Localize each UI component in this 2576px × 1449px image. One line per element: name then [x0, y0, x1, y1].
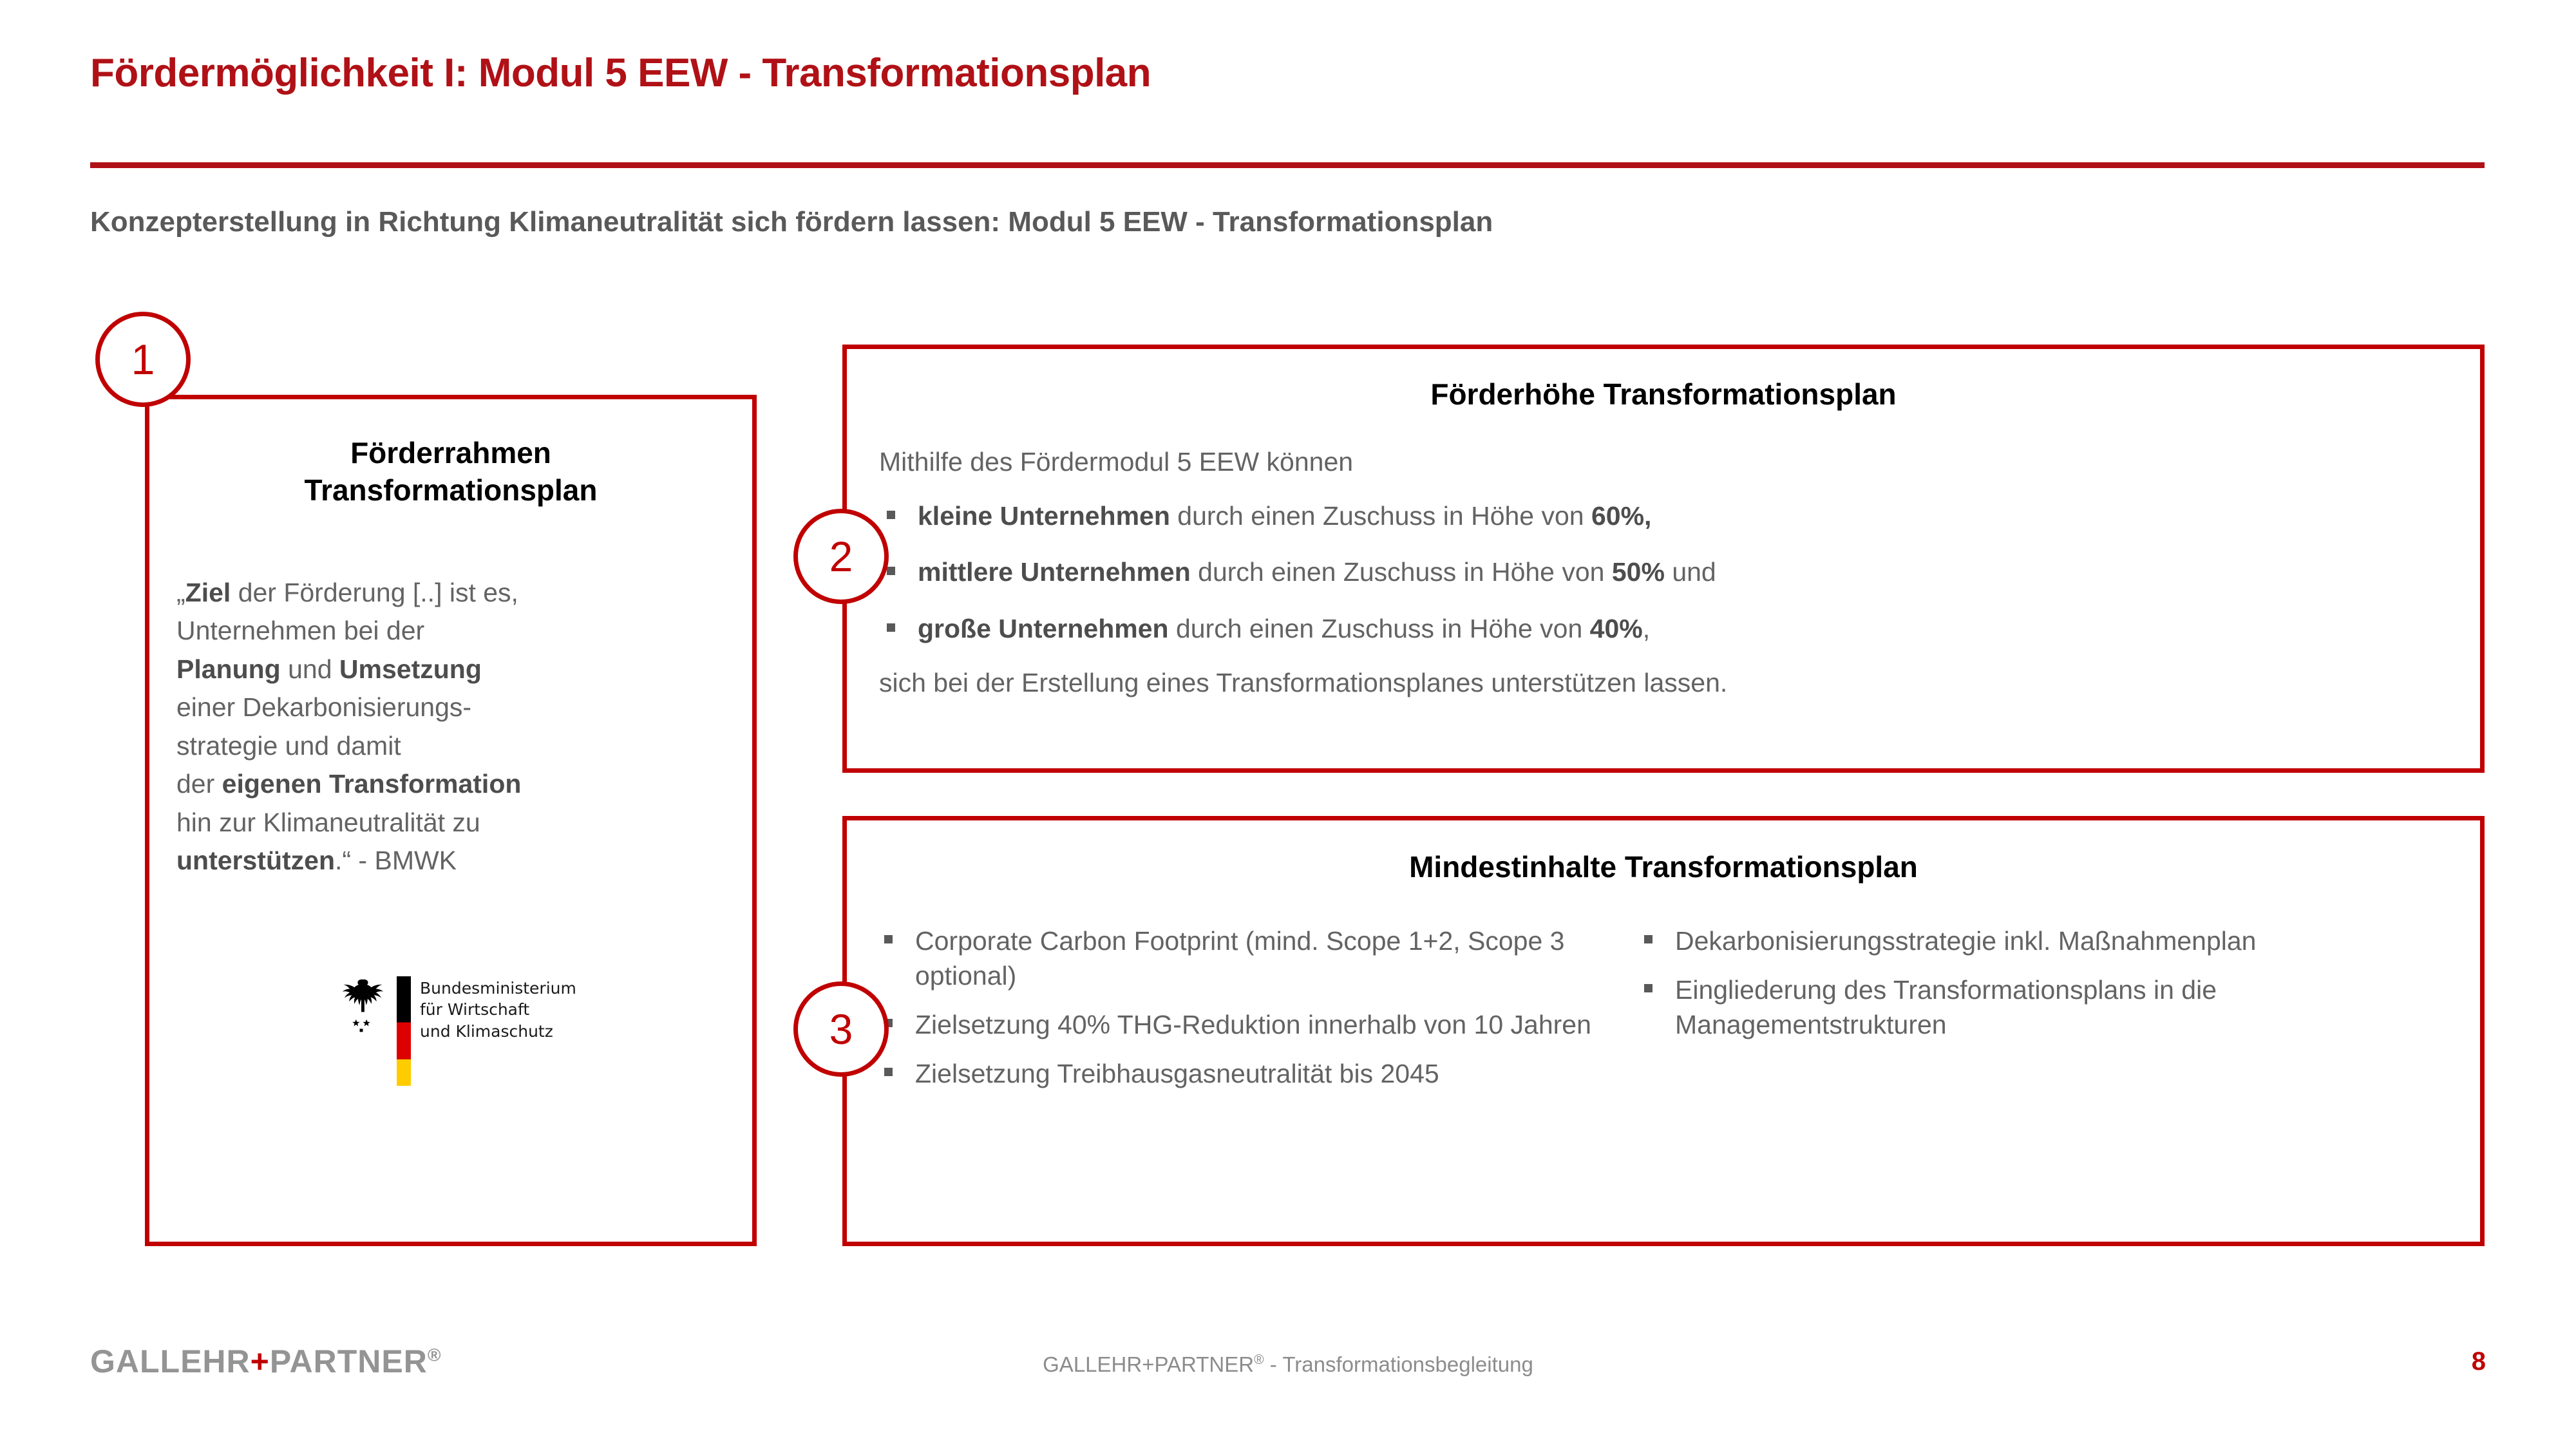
page-subtitle: Konzepterstellung in Richtung Klimaneutr… [90, 206, 2486, 238]
quote-bold-ziel: Ziel [185, 578, 231, 607]
page-number: 8 [2472, 1347, 2486, 1376]
bullet-value: 40% [1590, 614, 1643, 643]
footer-caption-part1: GALLEHR+PARTNER [1043, 1352, 1254, 1376]
foerderhoehe-heading: Förderhöhe Transformationsplan [847, 376, 2480, 413]
list-item: Zielsetzung Treibhausgasneutralität bis … [876, 1056, 1636, 1091]
bmwk-line1: Bundesministerium [420, 978, 576, 999]
mindestinhalte-columns: Corporate Carbon Footprint (mind. Scope … [876, 923, 2480, 1105]
federal-eagle-icon [335, 976, 388, 1033]
quote-line7: hin zur Klimaneutralität zu [176, 808, 480, 837]
bmwk-line3: und Klimaschutz [420, 1021, 576, 1042]
bmwk-line2: für Wirtschaft [420, 999, 576, 1020]
bullet-tail: , [1643, 614, 1650, 643]
list-item: mittlere Unternehmen durch einen Zuschus… [879, 555, 2480, 589]
footer-caption-part2: - Transformationsbegleitung [1264, 1352, 1533, 1376]
bullet-mid: durch einen Zuschuss in Höhe von [1191, 557, 1612, 587]
quote-bold-unterstuetzen: unterstützen [176, 846, 335, 875]
title-divider [90, 162, 2485, 168]
bmwk-quote: „Ziel der Förderung [..] ist es, Unterne… [176, 574, 752, 880]
page-title: Fördermöglichkeit I: Modul 5 EEW - Trans… [90, 50, 2486, 96]
foerderrahmen-heading: Förderrahmen Transformationsplan [169, 435, 733, 509]
mindestinhalte-left-list: Corporate Carbon Footprint (mind. Scope … [876, 923, 1636, 1091]
quote-bold-umsetzung: Umsetzung [339, 654, 482, 684]
bullet-tail: und [1665, 557, 1716, 587]
mindestinhalte-left-column: Corporate Carbon Footprint (mind. Scope … [876, 923, 1636, 1105]
step-marker-1: 1 [95, 312, 191, 407]
bullet-mid: durch einen Zuschuss in Höhe von [1170, 501, 1591, 531]
list-item: Dekarbonisierungsstrategie inkl. Maßnahm… [1636, 923, 2480, 958]
list-item: Zielsetzung 40% THG-Reduktion innerhalb … [876, 1007, 1636, 1042]
foerderhoehe-intro: Mithilfe des Fördermodul 5 EEW können [879, 447, 2480, 477]
mindestinhalte-right-column: Dekarbonisierungsstrategie inkl. Maßnahm… [1636, 923, 2480, 1105]
foerderhoehe-bullet-list: kleine Unternehmen durch einen Zuschuss … [879, 499, 2480, 646]
quote-text2: und [281, 654, 339, 684]
bullet-lead: große Unternehmen [918, 614, 1169, 643]
foerderhoehe-box: Förderhöhe Transformationsplan Mithilfe … [842, 345, 2485, 773]
quote-line4: einer Dekarbonisierungs- [176, 692, 471, 722]
foerderrahmen-box: Förderrahmen Transformationsplan „Ziel d… [145, 395, 757, 1246]
step-marker-2: 2 [793, 509, 889, 604]
list-item: Corporate Carbon Footprint (mind. Scope … [876, 923, 1636, 993]
mindestinhalte-right-list: Dekarbonisierungsstrategie inkl. Maßnahm… [1636, 923, 2480, 1042]
german-flag-bar-icon [397, 976, 411, 1086]
mindestinhalte-box: Mindestinhalte Transformationsplan Corpo… [842, 816, 2485, 1246]
bullet-lead: kleine Unternehmen [918, 501, 1170, 531]
bullet-value: 60%, [1591, 501, 1651, 531]
list-item: kleine Unternehmen durch einen Zuschuss … [879, 499, 2480, 533]
bullet-lead: mittlere Unternehmen [918, 557, 1191, 587]
bullet-mid: durch einen Zuschuss in Höhe von [1169, 614, 1590, 643]
quote-open: „ [176, 578, 185, 607]
quote-bold-transformation: eigenen Transformation [222, 769, 522, 799]
bullet-value: 50% [1612, 557, 1665, 587]
list-item: Eingliederung des Transformationsplans i… [1636, 972, 2480, 1042]
quote-text1: der Förderung [..] ist es, [231, 578, 518, 607]
bmwk-logo: Bundesministerium für Wirtschaft und Kli… [335, 976, 576, 1086]
quote-line5: strategie und damit [176, 731, 401, 761]
footer-caption: GALLEHR+PARTNER® - Transformationsbeglei… [0, 1352, 2576, 1377]
list-item: große Unternehmen durch einen Zuschuss i… [879, 612, 2480, 646]
foerderhoehe-body: Mithilfe des Fördermodul 5 EEW können kl… [879, 447, 2480, 698]
quote-line2: Unternehmen bei der [176, 616, 424, 645]
bmwk-ministry-name: Bundesministerium für Wirtschaft und Kli… [420, 976, 576, 1042]
foerderhoehe-outro: sich bei der Erstellung eines Transforma… [879, 668, 2480, 698]
foerderrahmen-heading-line1: Förderrahmen [169, 435, 733, 472]
mindestinhalte-heading: Mindestinhalte Transformationsplan [847, 849, 2480, 886]
quote-bold-planung: Planung [176, 654, 281, 684]
quote-text6-pre: der [176, 769, 222, 799]
step-marker-3: 3 [793, 981, 889, 1077]
quote-text8: .“ - BMWK [335, 846, 457, 875]
foerderrahmen-heading-line2: Transformationsplan [169, 472, 733, 509]
footer-registered-icon: ® [1254, 1352, 1264, 1367]
